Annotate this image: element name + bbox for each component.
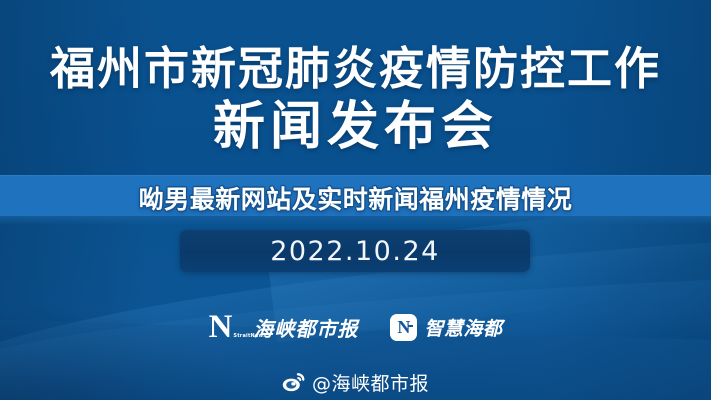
logo-name-zhihui: 智慧海都 [424, 314, 502, 341]
headline-line-1: 福州市新冠肺炎疫情防控工作 [0, 46, 711, 94]
press-conference-poster: 福州市新冠肺炎疫情防控工作 新闻发布会 呦男最新网站及实时新闻福州疫情情况 20… [0, 0, 711, 400]
logo-row: N StraitNews 海峡都市报 N 智慧海都 [0, 308, 711, 346]
headline-line-2: 新闻发布会 [0, 100, 711, 155]
date-text: 2022.10.24 [270, 236, 440, 267]
date-plate: 2022.10.24 [180, 230, 530, 272]
n-badge-dash-icon [408, 325, 413, 327]
weibo-watermark: @海峡都市报 [0, 368, 711, 396]
n-badge-icon: N [390, 314, 417, 341]
logo-name-haixia: 海峡都市报 [253, 313, 358, 342]
weibo-handle: @海峡都市报 [312, 369, 429, 396]
overlay-caption: 呦男最新网站及实时新闻福州疫情情况 [0, 180, 711, 216]
n-badge-glyph: N [397, 318, 410, 336]
n-letter-icon: N StraitNews [209, 311, 233, 344]
poster-headline: 福州市新冠肺炎疫情防控工作 新闻发布会 [0, 46, 711, 155]
n-letter-glyph: N [209, 309, 233, 345]
overlay-band-edge [0, 216, 711, 225]
n-letter-subtext: StraitNews [233, 334, 266, 339]
logo-zhihui-haidu: N 智慧海都 [390, 314, 502, 341]
weibo-icon [282, 372, 306, 392]
logo-haixia-metropolis-daily: N StraitNews 海峡都市报 [209, 311, 359, 344]
